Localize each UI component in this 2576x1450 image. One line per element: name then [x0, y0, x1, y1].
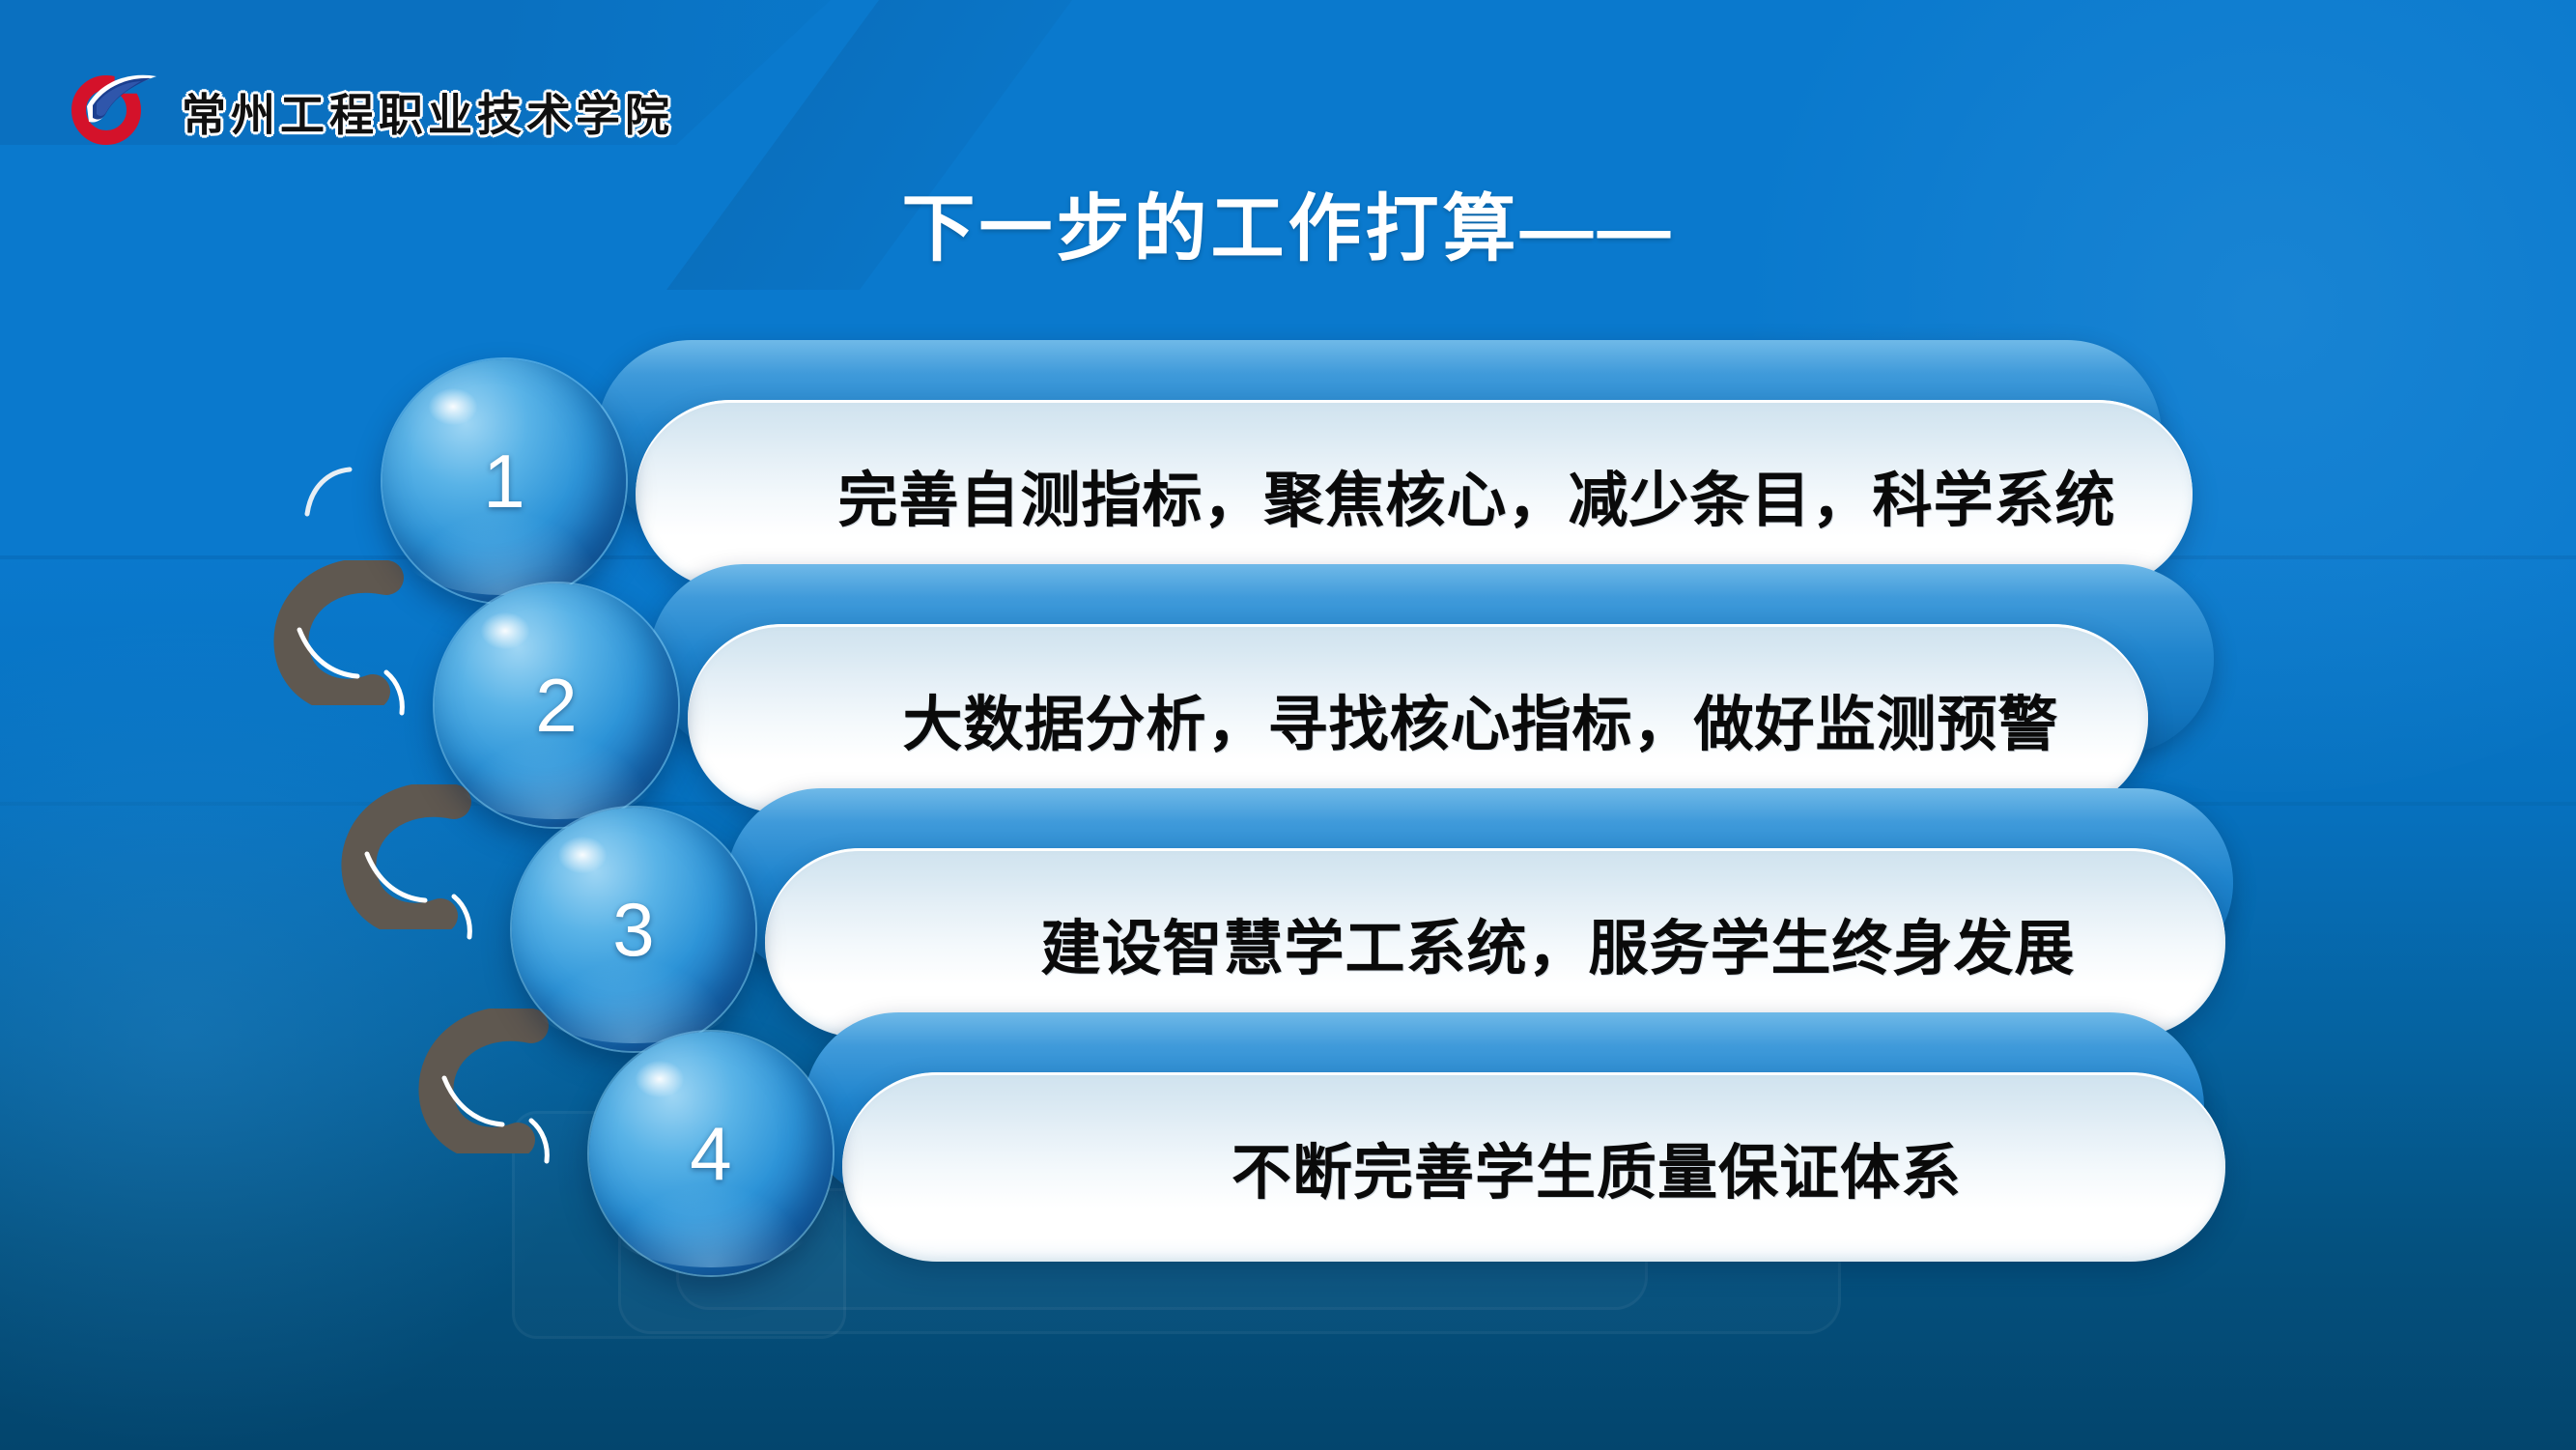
agenda-list: 完善自测指标，聚焦核心，减少条目，科学系统 1 大数据分析，寻找核心指标，做好监… — [0, 0, 2576, 1450]
list-item-number-badge[interactable]: 4 — [589, 1032, 833, 1275]
list-item-number-badge[interactable]: 3 — [512, 808, 755, 1051]
list-item-label: 大数据分析，寻找核心指标，做好监测预警 — [688, 675, 2148, 762]
row-content-pill[interactable]: 不断完善学生质量保证体系 — [842, 1072, 2225, 1262]
list-item-number-badge[interactable]: 1 — [382, 359, 626, 603]
list-item-number: 2 — [535, 668, 577, 743]
list-item-number: 4 — [690, 1116, 731, 1191]
list-item-number-badge[interactable]: 2 — [435, 583, 678, 827]
list-item-number: 3 — [612, 892, 654, 967]
row-content-pill[interactable]: 建设智慧学工系统，服务学生终身发展 — [765, 848, 2225, 1038]
list-item-label: 完善自测指标，聚焦核心，减少条目，科学系统 — [636, 451, 2193, 538]
list-item-label: 不断完善学生质量保证体系 — [842, 1123, 2225, 1210]
list-item-label: 建设智慧学工系统，服务学生终身发展 — [765, 899, 2225, 986]
row-content-pill[interactable]: 大数据分析，寻找核心指标，做好监测预警 — [688, 624, 2148, 813]
row-content-pill[interactable]: 完善自测指标，聚焦核心，减少条目，科学系统 — [636, 400, 2193, 589]
list-item-number: 1 — [483, 443, 524, 519]
slide-canvas: 常州工程职业技术学院 下一步的工作打算—— — [0, 0, 2576, 1450]
